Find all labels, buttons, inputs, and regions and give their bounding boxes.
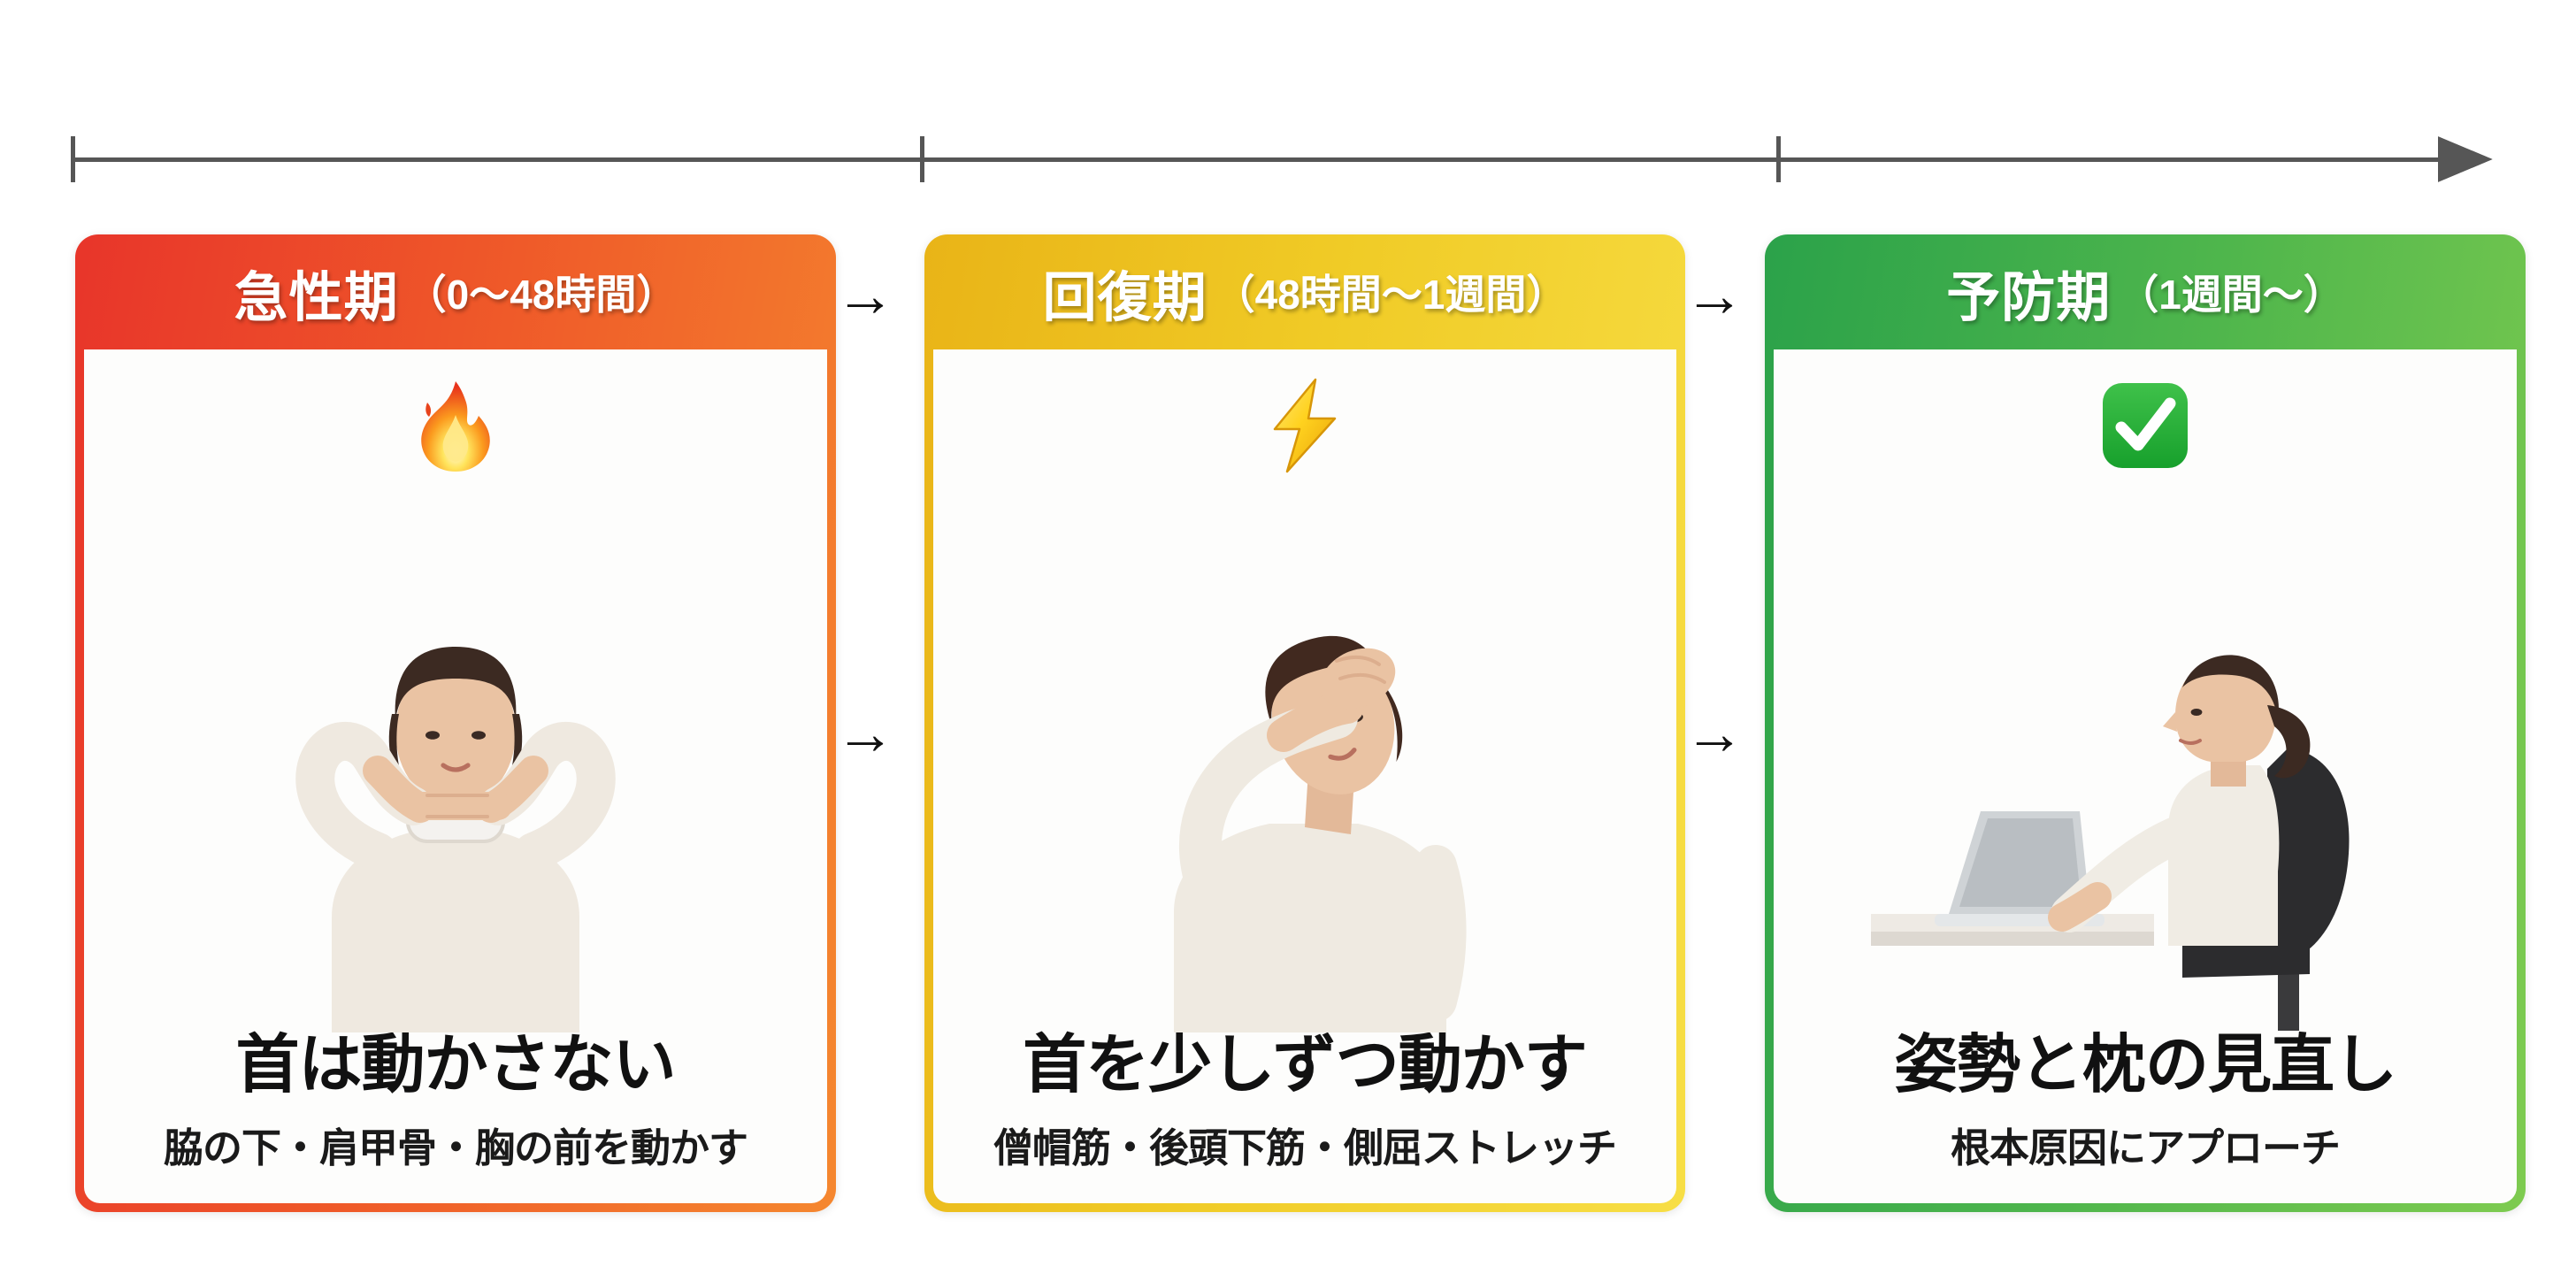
stage-caption-prevention: 姿勢と枕の見直し 根本原因にアプローチ	[1774, 1032, 2517, 1203]
stage-caption-recovery: 首を少しずつ動かす 僧帽筋・後頭下筋・側屈ストレッチ	[933, 1032, 1676, 1203]
check-mark-button-icon	[2092, 372, 2198, 479]
stage-card-prevention[interactable]: 予防期 （1週間〜）	[1765, 234, 2526, 1212]
connector-arrow-mid-1: →	[835, 703, 895, 764]
stage-photo-prevention	[1774, 479, 2517, 1032]
connector-arrow-mid-2: →	[1684, 703, 1744, 764]
lightning-bolt-icon	[1252, 372, 1358, 479]
caption-sub: 脇の下・肩甲骨・胸の前を動かす	[84, 1116, 827, 1173]
stage-card-header-acute: 急性期 （0〜48時間）	[75, 234, 836, 349]
connector-arrow-top-1: →	[835, 265, 895, 326]
stage-period: （48時間〜1週間）	[1215, 263, 1568, 321]
timeline-tick-start	[71, 136, 75, 182]
stage-title: 急性期	[234, 253, 399, 332]
stage-card-recovery[interactable]: 回復期 （48時間〜1週間）	[924, 234, 1685, 1212]
stage-period: （1週間〜）	[2118, 263, 2344, 321]
caption-main: 首を少しずつ動かす	[933, 1032, 1676, 1100]
caption-sub: 根本原因にアプローチ	[1774, 1116, 2517, 1173]
stage-photo-recovery	[933, 479, 1676, 1032]
stage-card-body-acute: 首は動かさない 脇の下・肩甲骨・胸の前を動かす	[84, 349, 827, 1203]
stage-title: 回復期	[1043, 253, 1207, 332]
timeline-tick-1	[920, 136, 924, 182]
stage-card-header-recovery: 回復期 （48時間〜1週間）	[924, 234, 1685, 349]
stage-caption-acute: 首は動かさない 脇の下・肩甲骨・胸の前を動かす	[84, 1032, 827, 1203]
stage-title: 予防期	[1946, 253, 2111, 332]
caption-main: 首は動かさない	[84, 1032, 827, 1100]
stage-card-body-prevention: 姿勢と枕の見直し 根本原因にアプローチ	[1774, 349, 2517, 1203]
connector-arrow-top-2: →	[1684, 265, 1744, 326]
timeline-axis-line	[71, 157, 2450, 162]
caption-sub: 僧帽筋・後頭下筋・側屈ストレッチ	[933, 1116, 1676, 1173]
stage-card-header-prevention: 予防期 （1週間〜）	[1765, 234, 2526, 349]
fire-icon	[402, 372, 509, 479]
timeline-arrowhead-icon	[2438, 136, 2493, 182]
timeline-tick-2	[1776, 136, 1781, 182]
stage-photo-acute	[84, 479, 827, 1032]
stage-period: （0〜48時間）	[406, 263, 678, 321]
progression-timeline	[71, 124, 2512, 203]
stage-card-body-recovery: 首を少しずつ動かす 僧帽筋・後頭下筋・側屈ストレッチ	[933, 349, 1676, 1203]
caption-main: 姿勢と枕の見直し	[1774, 1032, 2517, 1100]
stage-card-acute[interactable]: 急性期 （0〜48時間）	[75, 234, 836, 1212]
stage-card-row: 急性期 （0〜48時間）	[0, 234, 2576, 1216]
